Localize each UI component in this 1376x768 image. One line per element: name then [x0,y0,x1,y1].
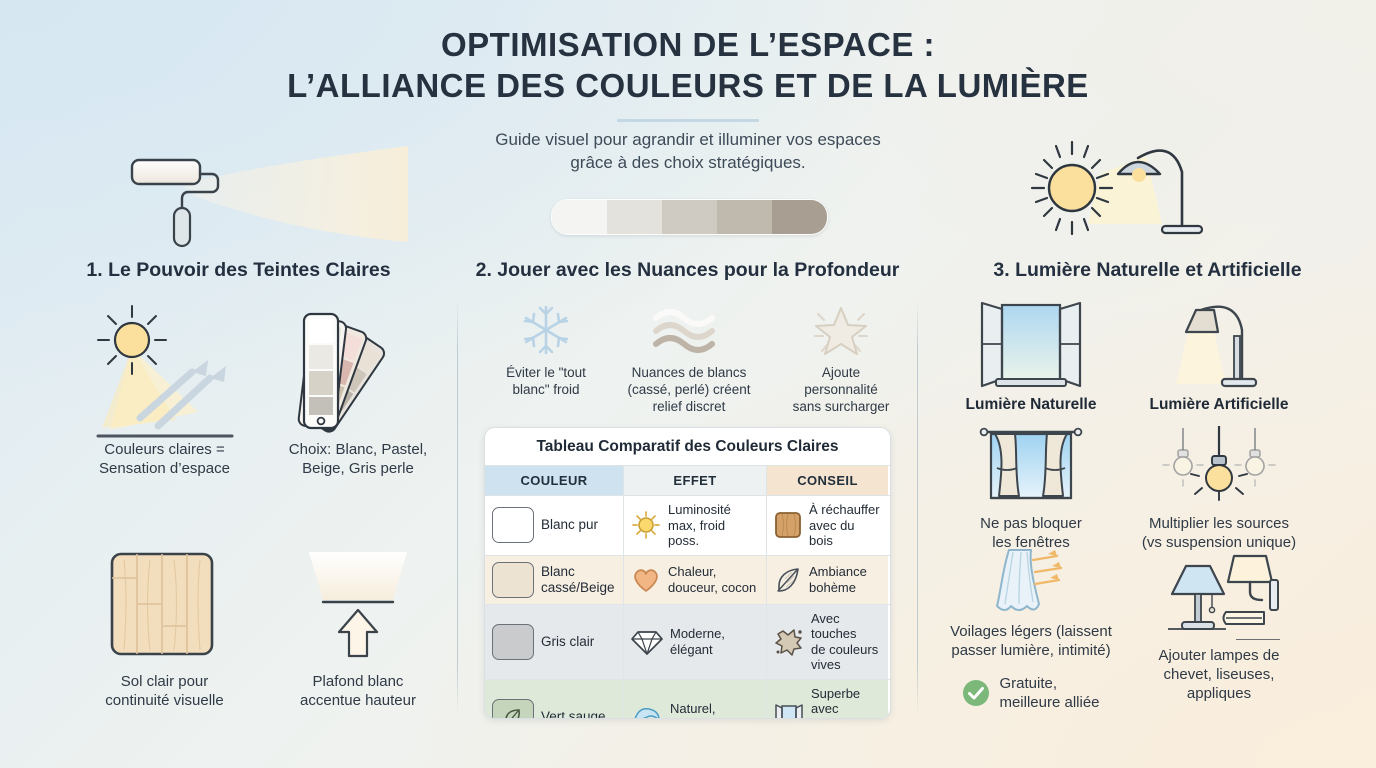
caption-line-1: Ne pas bloquer [980,514,1082,533]
cell-caption: Ne pas bloquer les fenêtres [980,514,1082,552]
feather-icon [774,566,802,594]
caption-line-2: accentue hauteur [300,691,416,710]
arc-floor-lamp-icon [1164,300,1274,392]
caption-line-2: Sensation d’espace [99,459,230,478]
page-title: OPTIMISATION DE L’ESPACE : L’ALLIANCE DE… [0,24,1376,122]
cell-light-floor: Sol clair pour continuité visuelle [62,548,267,710]
wood-panel-icon [774,511,802,539]
effect-text: Chaleur, douceur, cocon [668,564,756,595]
caption-line-1: Ajouter lampes de [1159,646,1280,665]
cell-effet: Naturel, apaisant [624,680,767,720]
advice-text: À réchauffer avec du bois [809,502,881,549]
three-pendant-bulbs-icon [1157,424,1281,510]
effect-text: Moderne, élégant [670,626,725,657]
table-row: Vert sauge Naturel, apaisant [485,679,890,720]
swatch-0 [552,200,607,234]
color-swatch-blanc-pur [492,507,534,543]
cell-caption: Nuances de blancs (cassé, perlé) créent … [627,364,750,415]
infographic-canvas: OPTIMISATION DE L’ESPACE : L’ALLIANCE DE… [0,0,1376,768]
star-sparkle-icon [808,302,874,358]
advice-text: Superbe avec bcp lumiére naturelle [811,686,881,720]
caption-line-2: chevet, liseuses, [1159,665,1280,684]
cell-caption: Choix: Blanc, Pastel, Beige, Gris perle [289,440,427,478]
swatch-1 [607,200,662,234]
cell-conseil: Avec touches de couleurs vives [767,605,888,679]
wave-icon [631,703,663,720]
cell-light-colors: Couleurs claires = Sensation d’espace [62,300,267,478]
caption-line-2: continuité visuelle [105,691,223,710]
caption-line-2: passer lumière, intimité) [950,641,1112,660]
cell-conseil: Ambiance bohème [767,556,888,604]
cell-color-choice: Choix: Blanc, Pastel, Beige, Gris perle [258,300,458,478]
heart-icon [631,566,661,594]
cell-white-shades: Nuances de blancs (cassé, perlé) créent … [614,302,764,415]
cell-natural-light: Lumière Naturelle [938,300,1124,414]
caption-line-1: Multiplier les sources [1142,514,1296,533]
cell-caption: Éviter le "tout blanc" froid [506,364,586,398]
cell-caption: Couleurs claires = Sensation d’espace [99,440,230,478]
sun-and-lamp-icon [1022,128,1237,250]
comparison-table: Tableau Comparatif des Couleurs Claires … [484,427,891,719]
cell-couleur: Gris clair [485,605,624,679]
caption-line-1: Choix: Blanc, Pastel, [289,440,427,459]
title-divider [617,119,759,122]
leaf-icon [503,707,523,720]
paint-splat-icon [774,627,804,657]
check-circle-icon [962,679,990,707]
table-row: Gris clair Moderne, élégant [485,604,890,679]
free-ally-badge: Gratuite, meilleure alliée [962,674,1099,712]
caption-line-2: personnalité [793,381,890,398]
cell-caption: Ajouter lampes de chevet, liseuses, appl… [1159,646,1280,703]
cell-caption: Sol clair pour continuité visuelle [105,672,223,710]
cell-couleur: Vert sauge [485,680,624,720]
swatch-2 [662,200,717,234]
cell-add-lamps: Ajouter lampes de chevet, liseuses, appl… [1126,548,1312,703]
caption-line-1: Ajoute [793,364,890,381]
cell-caption: Lumière Naturelle [966,396,1097,414]
paint-roller-icon [120,138,410,250]
cell-caption: Lumière Artificielle [1150,396,1289,414]
cell-caption: Plafond blanc accentue hauteur [300,672,416,710]
cell-conseil: Superbe avec bcp lumiére naturelle [767,680,888,720]
section-1-title: 1. Le Pouvoir des Teintes Claires [20,259,457,282]
caption-line-2: blanc" froid [506,381,586,398]
cell-white-ceiling: Plafond blanc accentue hauteur [258,548,458,710]
color-name: Vert sauge [541,709,606,720]
caption-line-3: relief discret [627,398,750,415]
table-row: Blanc pur Luminosité max, froid poss. [485,495,890,555]
advice-text: Ambiance bohème [809,564,867,595]
column-header-effet: EFFET [624,466,767,495]
column-divider-2 [917,300,918,715]
caption-line-2: (cassé, perlé) créent [627,381,750,398]
sun-icon [631,510,661,540]
cell-avoid-cold-white: Éviter le "tout blanc" froid [480,302,612,398]
cell-caption: Voilages légers (laissent passer lumière… [950,622,1112,660]
waves-shades-icon [648,302,730,358]
cell-adds-personality: Ajoute personnalité sans surcharger [766,302,916,415]
effect-text: Naturel, apaisant [670,701,719,719]
advice-text: Avec touches de couleurs vives [811,611,881,673]
caption-line-2: Beige, Gris perle [289,459,427,478]
caption-line-1: Plafond blanc [300,672,416,691]
table-lamp-and-sconce-icon [1154,548,1284,640]
light-wood-floor-icon [104,548,226,660]
title-line-1: OPTIMISATION DE L’ESPACE : [0,24,1376,65]
caption-line-3: sans surcharger [793,398,890,415]
curtained-window-icon [975,424,1087,510]
cell-conseil: À réchauffer avec du bois [767,496,888,555]
color-fan-deck-icon [278,300,438,440]
sun-reflection-icon [80,300,250,440]
caption-line-1: Sol clair pour [105,672,223,691]
title-line-2: L’ALLIANCE DES COULEURS ET DE LA LUMIÈRE [0,65,1376,106]
cell-caption: Ajoute personnalité sans surcharger [793,364,890,415]
section-2-title: 2. Jouer avec les Nuances pour la Profon… [459,259,916,282]
color-swatch-gris-clair [492,624,534,660]
caption-line-1: Éviter le "tout [506,364,586,381]
color-swatch-vert-sauge [492,699,534,720]
cell-artificial-light: Lumière Artificielle [1126,300,1312,414]
column-header-conseil: CONSEIL [767,466,888,495]
color-name: Blanc pur [541,517,598,533]
cell-dont-block-windows: Ne pas bloquer les fenêtres [938,424,1124,552]
cell-couleur: Blanc cassé/Beige [485,556,624,604]
white-ceiling-up-arrow-icon [283,548,433,660]
cell-caption: Multiplier les sources (vs suspension un… [1142,514,1296,552]
cell-multiple-sources: Multiplier les sources (vs suspension un… [1126,424,1312,552]
cell-effet: Chaleur, douceur, cocon [624,556,767,604]
table-header-row: COULEUR EFFET CONSEIL [485,465,890,495]
open-window-icon [976,300,1086,392]
color-gradient-swatch-bar [551,199,828,235]
caption-line-3: appliques [1159,684,1280,703]
sheer-curtain-icon [975,548,1087,620]
snowflake-icon [517,302,575,358]
color-name: Blanc cassé/Beige [541,564,615,596]
open-window-small-icon [774,702,804,720]
table-row: Blanc cassé/Beige Chaleur, douceur, coco… [485,555,890,604]
effect-text: Luminosité max, froid poss. [668,502,759,549]
table-caption: Tableau Comparatif des Couleurs Claires [485,428,890,465]
caption-line-1: Couleurs claires = [99,440,230,459]
color-name: Gris clair [541,634,594,650]
badge-text: Gratuite, meilleure alliée [999,674,1099,712]
color-swatch-blanc-casse [492,562,534,598]
cell-effet: Luminosité max, froid poss. [624,496,767,555]
swatch-3 [717,200,772,234]
cell-effet: Moderne, élégant [624,605,767,679]
column-header-couleur: COULEUR [485,466,624,495]
cell-couleur: Blanc pur [485,496,624,555]
swatch-4 [772,200,827,234]
cell-sheer-curtains: Voilages légers (laissent passer lumière… [938,548,1124,712]
diamond-icon [631,628,663,656]
caption-line-1: Nuances de blancs [627,364,750,381]
section-3-title: 3. Lumière Naturelle et Artificielle [919,259,1376,282]
caption-line-1: Voilages légers (laissent [950,622,1112,641]
